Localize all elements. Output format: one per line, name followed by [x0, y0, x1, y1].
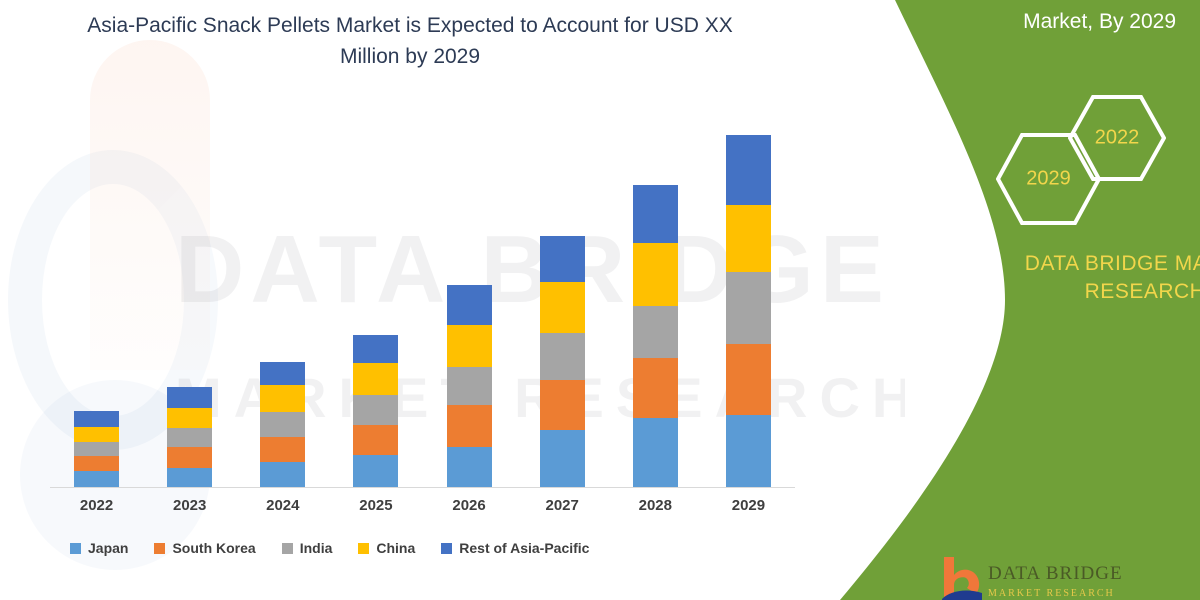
bar-segment[interactable] [726, 344, 771, 415]
legend-swatch-icon [154, 543, 165, 554]
bar-group-2023 [145, 387, 235, 487]
x-axis-label-2029: 2029 [703, 497, 793, 514]
bar-segment[interactable] [633, 243, 678, 306]
legend-item-japan[interactable]: Japan [70, 540, 128, 556]
bar-segment[interactable] [260, 385, 305, 412]
bar-segment[interactable] [540, 236, 585, 282]
bar-group-2027 [517, 236, 607, 487]
logo-name: DATA BRIDGE [988, 563, 1123, 585]
bar-segment[interactable] [74, 442, 119, 456]
bar-segment[interactable] [167, 447, 212, 468]
logo-tagline: MARKET RESEARCH [988, 588, 1115, 599]
legend-swatch-icon [282, 543, 293, 554]
stacked-bar[interactable] [540, 236, 585, 487]
bar-segment[interactable] [167, 428, 212, 447]
bar-segment[interactable] [74, 427, 119, 442]
x-axis-label-2026: 2026 [424, 497, 514, 514]
bar-segment[interactable] [74, 411, 119, 427]
legend-label: Japan [88, 540, 128, 556]
bar-segment[interactable] [447, 447, 492, 487]
bar-segment[interactable] [540, 333, 585, 380]
bar-segment[interactable] [726, 415, 771, 487]
panel-title: Market, By 2029 [876, 10, 1176, 34]
x-axis-label-2025: 2025 [331, 497, 421, 514]
brand-name-line2: RESEARCH [980, 278, 1200, 306]
legend-label: Rest of Asia-Pacific [459, 540, 589, 556]
stacked-bar[interactable] [726, 135, 771, 487]
bar-segment[interactable] [353, 363, 398, 395]
bar-group-2028 [610, 185, 700, 487]
bar-segment[interactable] [726, 135, 771, 205]
x-axis-line [50, 487, 795, 488]
bar-segment[interactable] [726, 272, 771, 344]
bar-segment[interactable] [447, 325, 492, 367]
x-axis-label-2022: 2022 [52, 497, 142, 514]
branding-panel: Market, By 2029 2029 2022 DATA BRIDGE MA… [800, 0, 1200, 600]
bar-segment[interactable] [260, 462, 305, 487]
chart-screenshot: DATA BRIDGE MARKET RESEARCH Asia-Pacific… [0, 0, 1200, 600]
bar-segment[interactable] [260, 362, 305, 385]
brand-name-line1: DATA BRIDGE MARKET [980, 250, 1200, 278]
bar-segment[interactable] [633, 185, 678, 243]
bar-segment[interactable] [540, 430, 585, 487]
bar-group-2025 [331, 335, 421, 487]
bar-group-2022 [52, 411, 142, 487]
stacked-bar[interactable] [74, 411, 119, 487]
bar-segment[interactable] [260, 437, 305, 462]
logo-mark-icon [940, 555, 984, 600]
x-axis-label-2024: 2024 [238, 497, 328, 514]
bar-group-2024 [238, 362, 328, 487]
x-axis-label-2027: 2027 [517, 497, 607, 514]
legend-swatch-icon [358, 543, 369, 554]
bar-segment[interactable] [633, 306, 678, 358]
bar-segment[interactable] [353, 335, 398, 363]
bar-segment[interactable] [633, 358, 678, 418]
x-axis-label-2023: 2023 [145, 497, 235, 514]
stacked-bar[interactable] [260, 362, 305, 487]
bar-segment[interactable] [167, 387, 212, 408]
chart-title: Asia-Pacific Snack Pellets Market is Exp… [60, 10, 760, 72]
legend-item-india[interactable]: India [282, 540, 333, 556]
bar-chart-plot [50, 100, 795, 487]
bar-segment[interactable] [633, 418, 678, 487]
bar-segment[interactable] [540, 380, 585, 430]
bar-segment[interactable] [447, 405, 492, 447]
legend-item-rest-of-asia-pacific[interactable]: Rest of Asia-Pacific [441, 540, 589, 556]
legend-label: China [376, 540, 415, 556]
hexagon-2022-label: 2022 [1068, 127, 1166, 150]
bar-segment[interactable] [74, 456, 119, 471]
stacked-bar[interactable] [447, 285, 492, 487]
bar-segment[interactable] [353, 455, 398, 487]
bar-group-2026 [424, 285, 514, 487]
bar-group-2029 [703, 135, 793, 487]
bar-segment[interactable] [167, 408, 212, 428]
bar-segment[interactable] [726, 205, 771, 272]
legend-label: South Korea [172, 540, 255, 556]
bar-segment[interactable] [353, 395, 398, 425]
legend-swatch-icon [70, 543, 81, 554]
hexagon-group: 2029 2022 [996, 95, 1196, 225]
legend-swatch-icon [441, 543, 452, 554]
x-axis-label-2028: 2028 [610, 497, 700, 514]
bar-segment[interactable] [447, 285, 492, 325]
legend-label: India [300, 540, 333, 556]
legend-item-china[interactable]: China [358, 540, 415, 556]
chart-panel: DATA BRIDGE MARKET RESEARCH Asia-Pacific… [0, 0, 905, 600]
data-bridge-logo: DATA BRIDGE MARKET RESEARCH [940, 555, 1200, 600]
legend-item-south-korea[interactable]: South Korea [154, 540, 255, 556]
bar-segment[interactable] [167, 468, 212, 487]
x-axis-labels: 20222023202420252026202720282029 [50, 497, 795, 514]
chart-legend: JapanSouth KoreaIndiaChinaRest of Asia-P… [70, 540, 770, 556]
bar-segment[interactable] [260, 412, 305, 437]
bar-segment[interactable] [447, 367, 492, 405]
bar-segment[interactable] [540, 282, 585, 333]
stacked-bar[interactable] [353, 335, 398, 487]
stacked-bar[interactable] [167, 387, 212, 487]
bar-segment[interactable] [74, 471, 119, 487]
stacked-bar[interactable] [633, 185, 678, 487]
bar-segment[interactable] [353, 425, 398, 455]
hexagon-2022: 2022 [1068, 95, 1166, 181]
brand-name: DATA BRIDGE MARKET RESEARCH [980, 250, 1200, 306]
